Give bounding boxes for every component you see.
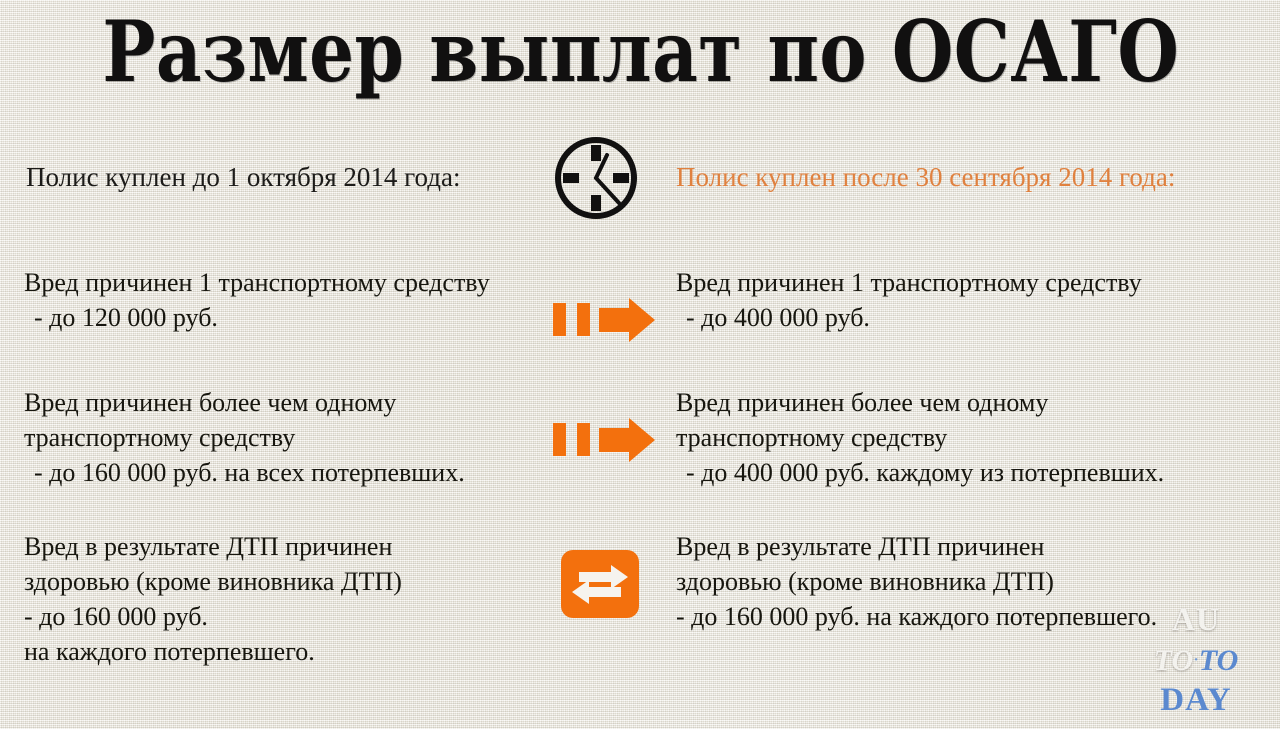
motion-arrow-right-icon xyxy=(553,298,655,342)
row-2-right-line-2: транспортному средству xyxy=(676,420,1164,455)
watermark-logo: AU TO·TO DAY xyxy=(1130,602,1262,723)
arrow-motion-bar xyxy=(577,423,590,456)
arrow-head xyxy=(599,418,655,462)
row-1-left-line-1: Вред причинен 1 транспортному средству xyxy=(24,265,490,300)
row-3-left-line-4: на каждого потерпевшего. xyxy=(24,634,402,669)
row-2-right-line-3: - до 400 000 руб. каждому из потерпевших… xyxy=(676,455,1164,490)
row-1-right-line-2: - до 400 000 руб. xyxy=(676,300,1142,335)
watermark-au-text: AU xyxy=(1172,601,1220,637)
row-2-left-line-3: - до 160 000 руб. на всех потерпевших. xyxy=(24,455,465,490)
row-1-right-line-1: Вред причинен 1 транспортному средству xyxy=(676,265,1142,300)
row-2-left-block: Вред причинен более чем одному транспорт… xyxy=(24,385,465,490)
row-2-right-block: Вред причинен более чем одному транспорт… xyxy=(676,385,1164,490)
arrow-motion-bar xyxy=(577,303,590,336)
double-arrow-exchange-icon xyxy=(561,550,639,618)
clock-icon xyxy=(553,135,639,221)
infographic-poster: Размер выплат по ОСАГО Полис куплен до 1… xyxy=(0,0,1280,729)
motion-arrow-right-icon xyxy=(553,418,655,462)
row-3-right-block: Вред в результате ДТП причинен здоровью … xyxy=(676,529,1157,634)
row-3-right-line-2: здоровью (кроме виновника ДТП) xyxy=(676,564,1157,599)
arrow-head xyxy=(599,298,655,342)
row-3-left-block: Вред в результате ДТП причинен здоровью … xyxy=(24,529,402,669)
row-3-left-line-1: Вред в результате ДТП причинен xyxy=(24,529,402,564)
row-1-left-block: Вред причинен 1 транспортному средству -… xyxy=(24,265,490,335)
row-3-left-line-2: здоровью (кроме виновника ДТП) xyxy=(24,564,402,599)
page-title: Размер выплат по ОСАГО xyxy=(102,6,1177,98)
row-3-left-line-3: - до 160 000 руб. xyxy=(24,599,402,634)
row-2-right-line-1: Вред причинен более чем одному xyxy=(676,385,1164,420)
row-1-left-line-2: - до 120 000 руб. xyxy=(24,300,490,335)
header-before-date: Полис куплен до 1 октября 2014 года: xyxy=(26,160,461,194)
watermark-to-blue-text: TO xyxy=(1199,644,1238,677)
row-2-left-line-1: Вред причинен более чем одному xyxy=(24,385,465,420)
watermark-line-2: TO·TO xyxy=(1130,643,1262,683)
arrow-motion-bar xyxy=(553,303,566,336)
row-3-right-line-3: - до 160 000 руб. на каждого потерпевшег… xyxy=(676,599,1157,634)
row-3-right-line-1: Вред в результате ДТП причинен xyxy=(676,529,1157,564)
watermark-line-3: DAY xyxy=(1130,683,1262,723)
row-1-right-block: Вред причинен 1 транспортному средству -… xyxy=(676,265,1142,335)
header-after-date: Полис куплен после 30 сентября 2014 года… xyxy=(676,160,1175,194)
arrow-motion-bar xyxy=(553,423,566,456)
watermark-line-1: AU xyxy=(1130,602,1262,643)
row-2-left-line-2: транспортному средству xyxy=(24,420,465,455)
watermark-to-white-text: TO xyxy=(1154,644,1193,677)
watermark-day-text: DAY xyxy=(1160,682,1231,718)
